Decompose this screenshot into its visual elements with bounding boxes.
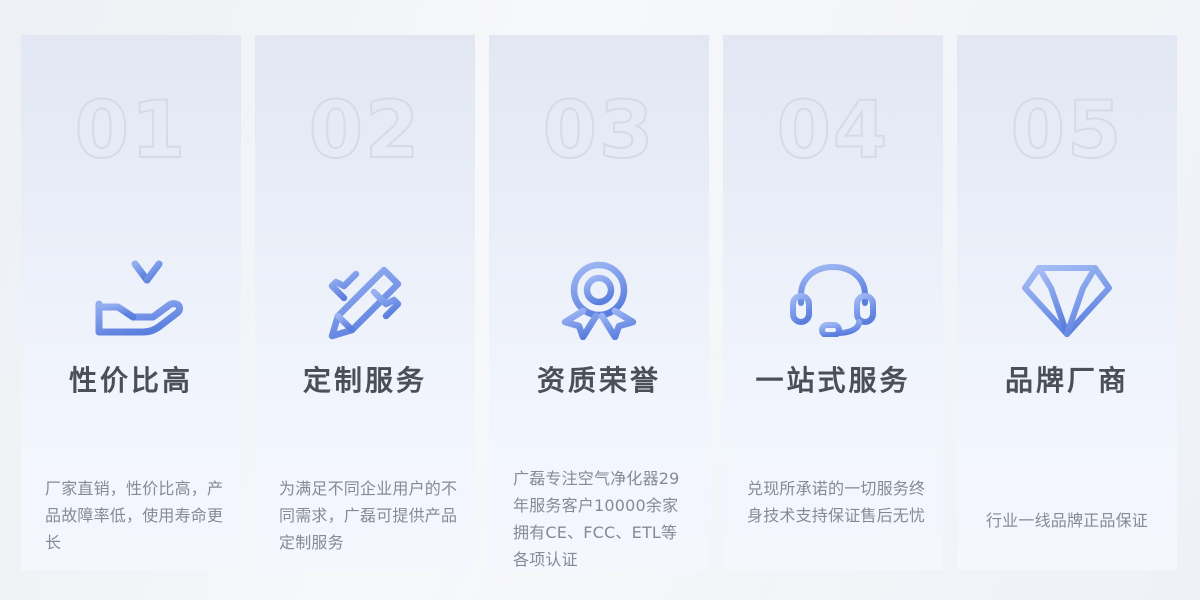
card-index-number: 01 (21, 92, 241, 170)
card-title: 性价比高 (21, 359, 241, 399)
award-ribbon-icon (489, 257, 709, 343)
card-description: 厂家直销，性价比高，产品故障率低，使用寿命更长 (45, 475, 225, 556)
feature-card[interactable]: 04 (723, 35, 943, 570)
card-description: 行业一线品牌正品保证 (971, 507, 1163, 534)
feature-card[interactable]: 05 品牌厂商 行业一线品牌正品保证 (957, 35, 1177, 570)
headset-icon (723, 257, 943, 343)
card-description: 广磊专注空气净化器29年服务客户10000余家拥有CE、FCC、ETL等各项认证 (513, 465, 693, 570)
pencil-wrench-icon (255, 257, 475, 343)
diamond-icon (957, 257, 1177, 343)
feature-card-list: 01 (21, 35, 1180, 570)
hand-holding-yuan-icon (21, 257, 241, 343)
feature-card[interactable]: 01 (21, 35, 241, 570)
card-index-number: 03 (489, 92, 709, 170)
card-title: 一站式服务 (723, 359, 943, 399)
card-title: 资质荣誉 (489, 359, 709, 399)
card-index-number: 02 (255, 92, 475, 170)
feature-card[interactable]: 03 资质荣誉 广磊专注空气净化器2 (489, 35, 709, 570)
card-title: 定制服务 (255, 359, 475, 399)
feature-card[interactable]: 02 定制服务 (255, 35, 475, 570)
card-description: 兑现所承诺的一切服务终身技术支持保证售后无忧 (747, 475, 927, 529)
card-index-number: 05 (957, 92, 1177, 170)
card-index-number: 04 (723, 92, 943, 170)
card-title: 品牌厂商 (957, 359, 1177, 399)
card-description: 为满足不同企业用户的不同需求，广磊可提供产品定制服务 (279, 475, 459, 556)
